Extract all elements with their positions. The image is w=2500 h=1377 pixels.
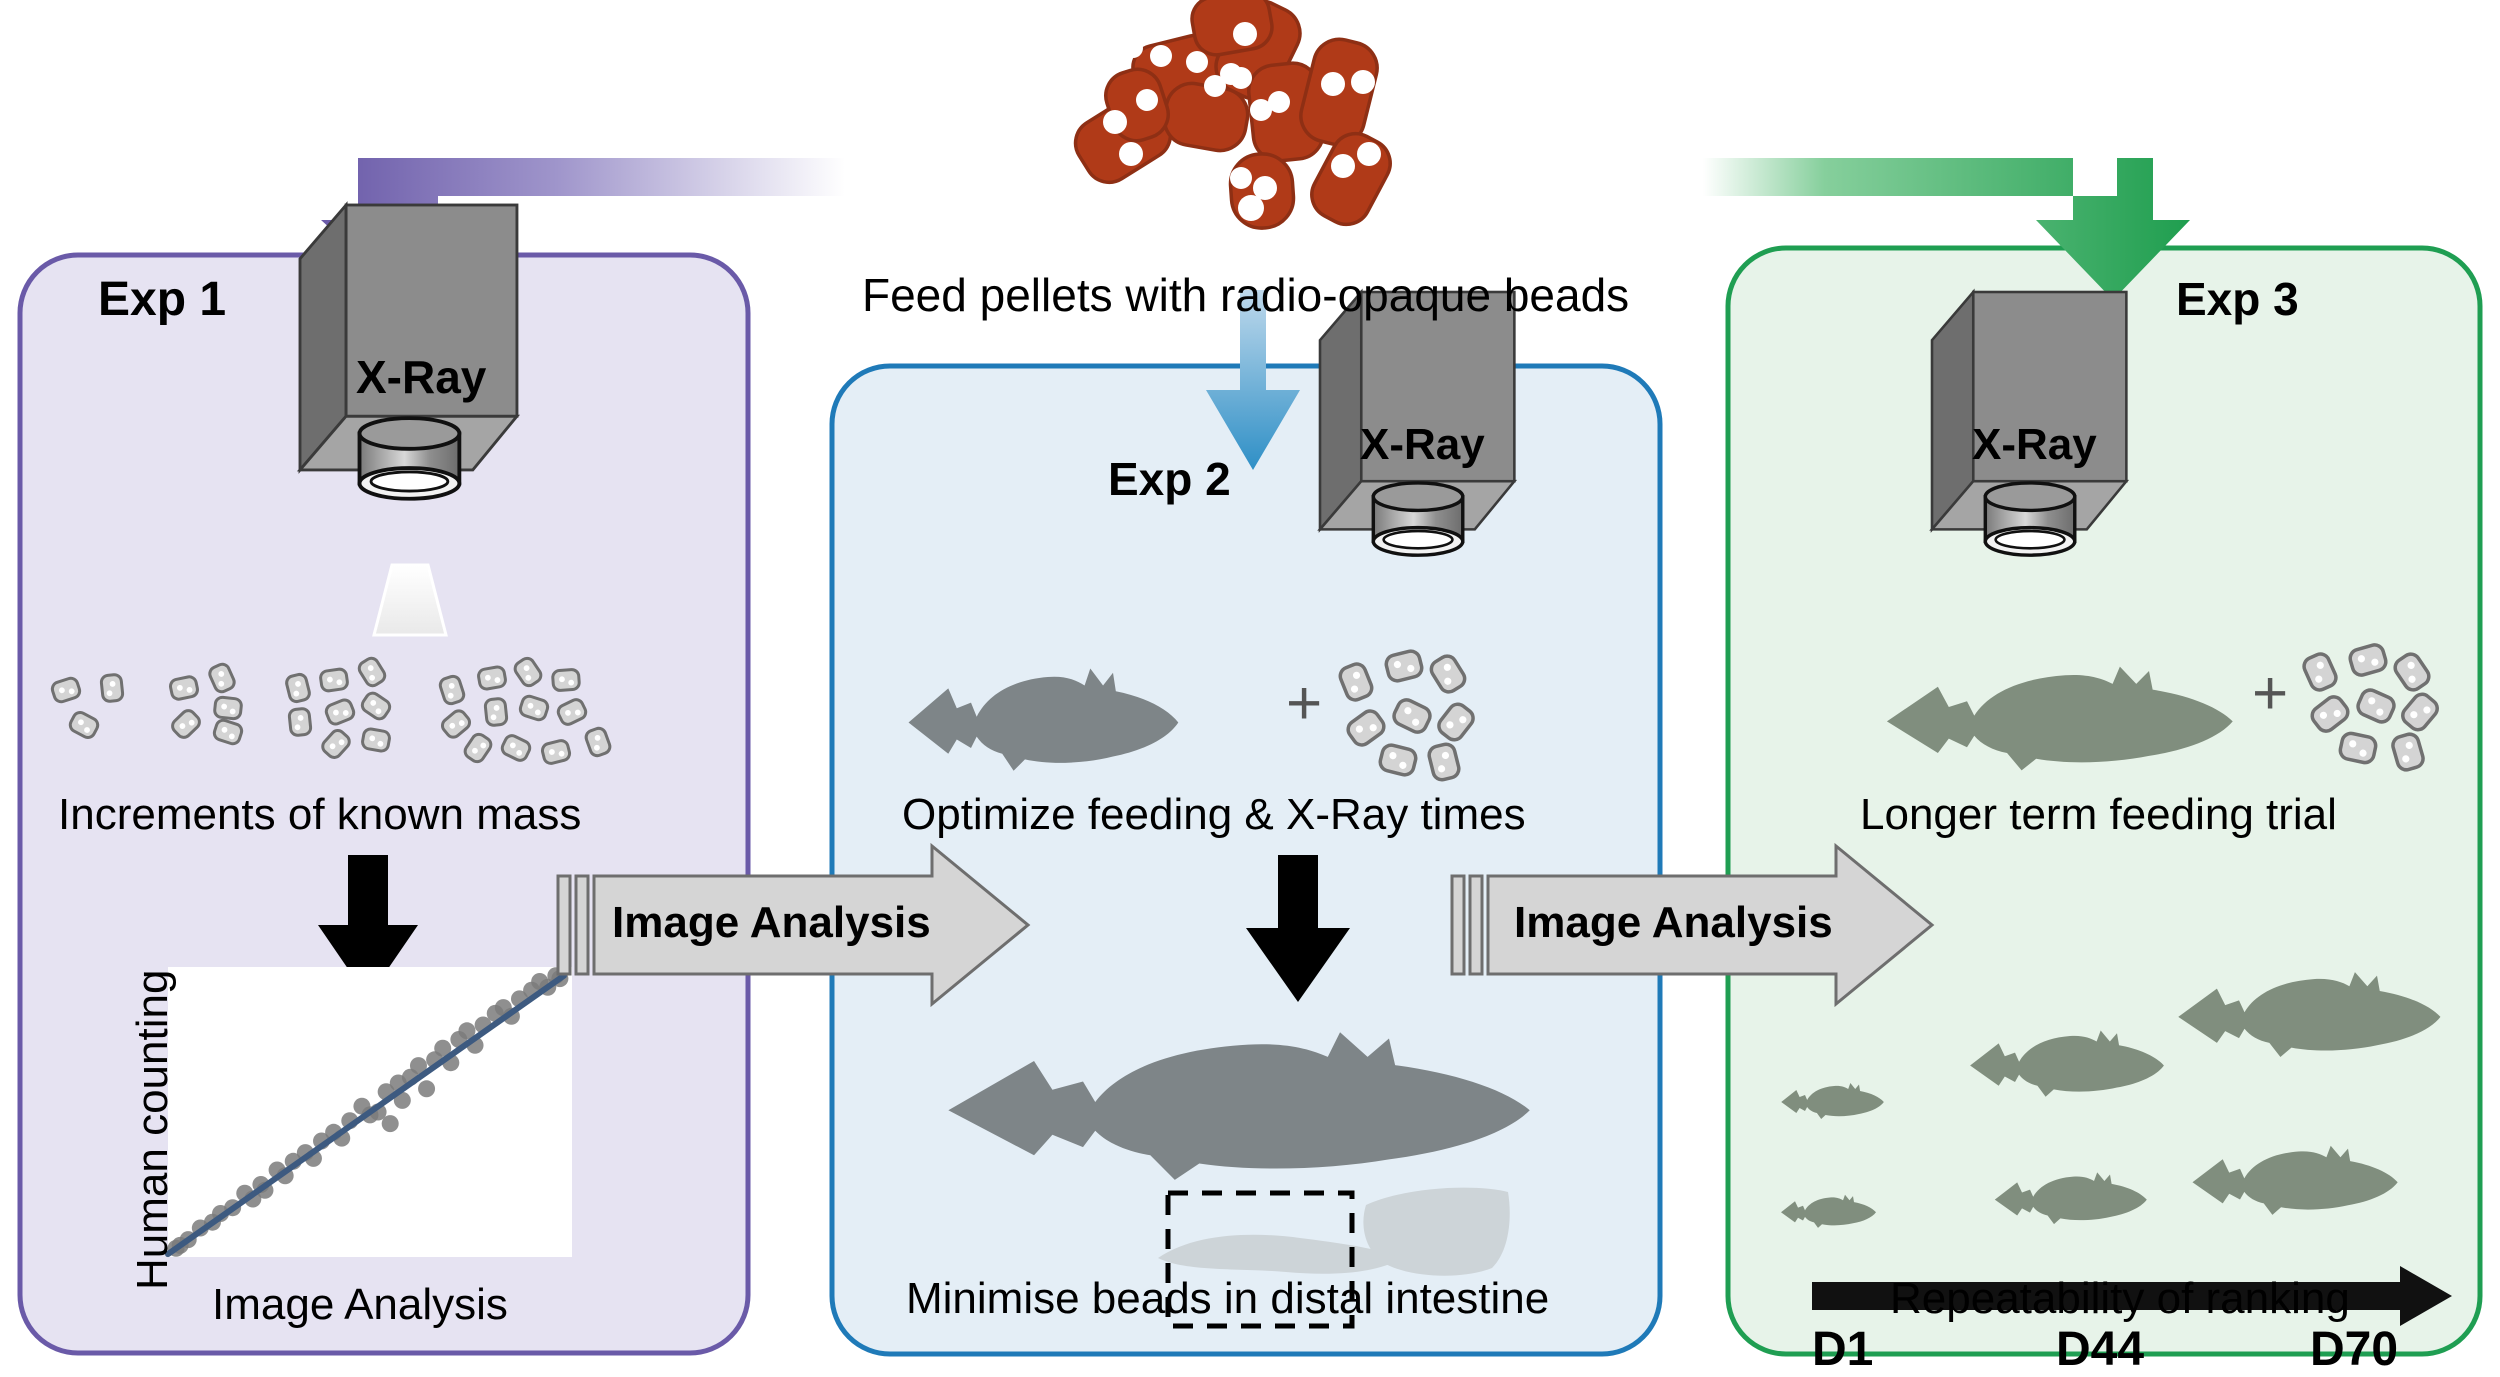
xray-label-exp1: X-Ray: [356, 350, 486, 404]
transition-banner-1-label: Image Analysis: [612, 898, 931, 948]
xray-label-exp3: X-Ray: [1972, 420, 2097, 470]
scatter-point: [382, 1115, 399, 1132]
exp2-plus-symbol: +: [1286, 668, 1322, 739]
panel-title-exp3: Exp 3: [2176, 272, 2299, 326]
panel-title-exp1: Exp 1: [98, 272, 226, 327]
top-caption: Feed pellets with radio-opaque beads: [862, 268, 1629, 322]
figure-canvas: Feed pellets with radio-opaque beads Exp…: [0, 0, 2500, 1370]
diagram-vector-layer: [0, 0, 2500, 1370]
feed-pellet-pile: [1067, 0, 1399, 233]
transition-banner-2-label: Image Analysis: [1514, 898, 1833, 948]
exp3-mid-caption: Longer term feeding trial: [1860, 790, 2337, 840]
timeline-label-d70: D70: [2310, 1322, 2398, 1377]
xray-label-exp2: X-Ray: [1360, 420, 1485, 470]
exp2-mid-caption: Optimize feeding & X-Ray times: [902, 790, 1526, 840]
exp1-scatter-plot: [168, 967, 572, 1257]
exp3-bottom-caption: Repeatability of ranking: [1890, 1274, 2350, 1324]
exp3-plus-symbol: +: [2252, 658, 2288, 729]
exp1-chart-y-axis-label: Human counting: [128, 970, 178, 1290]
timeline-label-d44: D44: [2056, 1322, 2144, 1377]
exp1-chart-x-axis-label: Image Analysis: [212, 1280, 508, 1330]
panel-title-exp2: Exp 2: [1108, 452, 1231, 506]
timeline-label-d1: D1: [1812, 1322, 1873, 1377]
exp2-bottom-caption: Minimise beads in distal intestine: [906, 1274, 1549, 1324]
exp1-mid-caption: Increments of known mass: [58, 790, 581, 840]
panel-exp2-container: [832, 366, 1660, 1354]
scatter-point: [418, 1080, 435, 1097]
